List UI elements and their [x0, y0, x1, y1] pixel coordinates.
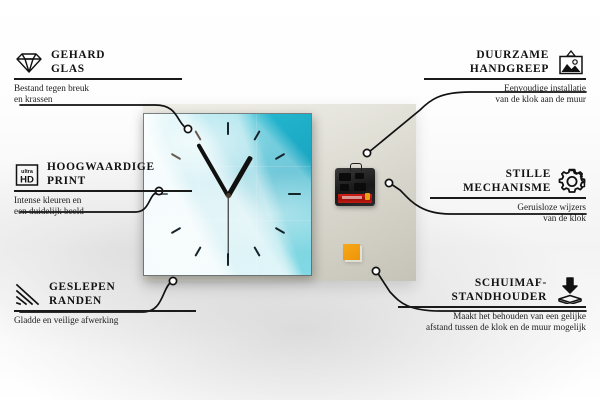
feature-header: DUURZAME HANDGREEP — [424, 49, 586, 76]
feature-gehard-glas: GEHARD GLAS Bestand tegen breuk en krass… — [14, 49, 182, 106]
feature-geslepen-randen: GESLEPEN RANDEN Gladde en veilige afwerk… — [14, 281, 196, 326]
feature-rule — [14, 78, 182, 80]
feature-schuimafstandhouder: SCHUIMAF- STANDHOUDER Maakt het behouden… — [398, 277, 586, 334]
feature-rule — [430, 197, 586, 199]
hour-marker — [227, 122, 229, 135]
feature-stille-mechanisme: STILLE MECHANISME Geruisloze wijzers van… — [430, 168, 586, 225]
clock-mechanism — [335, 168, 375, 206]
feature-header: SCHUIMAF- STANDHOUDER — [398, 277, 586, 304]
feature-description: Gladde en veilige afwerking — [14, 315, 196, 326]
clock-battery — [338, 194, 372, 203]
feature-header: ultra HD HOOGWAARDIGE PRINT — [14, 161, 192, 188]
feature-title: HOOGWAARDIGE PRINT — [47, 161, 155, 188]
feature-description: Intense kleuren en een duidelijk beeld — [14, 195, 192, 218]
ultra-hd-icon: ultra HD — [14, 163, 40, 187]
beveled-edge-icon — [14, 283, 42, 307]
feature-title: GESLEPEN RANDEN — [49, 281, 115, 308]
feature-title: DUURZAME HANDGREEP — [470, 49, 549, 76]
feature-header: STILLE MECHANISME — [430, 168, 586, 195]
hanging-picture-icon — [556, 50, 586, 76]
infographic-root: GEHARD GLAS Bestand tegen breuk en krass… — [0, 0, 600, 400]
mechanism-detail — [339, 173, 351, 181]
feature-description: Geruisloze wijzers van de klok — [430, 202, 586, 225]
feature-description: Maakt het behouden van een gelijke afsta… — [398, 311, 586, 334]
mechanism-detail — [340, 184, 349, 191]
feature-rule — [14, 190, 192, 192]
feature-header: GESLEPEN RANDEN — [14, 281, 196, 308]
clock-second-hand — [227, 196, 228, 258]
clock-center-hub — [226, 193, 231, 198]
gear-icon — [558, 168, 586, 195]
mechanism-detail — [354, 183, 366, 191]
battery-label — [342, 196, 362, 199]
hour-marker — [288, 193, 301, 195]
battery-positive-terminal — [365, 193, 370, 200]
feature-description: Bestand tegen breuk en krassen — [14, 83, 182, 106]
feature-description: Eenvoudige installatie van de klok aan d… — [424, 83, 586, 106]
mechanism-hanger-hook — [350, 163, 362, 171]
foam-spacer-pad — [343, 244, 360, 260]
mechanism-detail — [355, 173, 364, 179]
feature-title: GEHARD GLAS — [51, 49, 105, 76]
feature-rule — [398, 306, 586, 308]
diamond-icon — [14, 51, 44, 75]
feature-header: GEHARD GLAS — [14, 49, 182, 76]
feature-rule — [424, 78, 586, 80]
feature-rule — [14, 310, 196, 312]
feature-duurzame-handgreep: DUURZAME HANDGREEP Eenvoudige installati… — [424, 49, 586, 106]
feature-title: STILLE MECHANISME — [463, 168, 551, 195]
press-down-pad-icon — [554, 277, 586, 304]
svg-text:HD: HD — [20, 174, 34, 185]
feature-title: SCHUIMAF- STANDHOUDER — [452, 277, 547, 304]
feature-hoogwaardige-print: ultra HD HOOGWAARDIGE PRINT Intense kleu… — [14, 161, 192, 218]
